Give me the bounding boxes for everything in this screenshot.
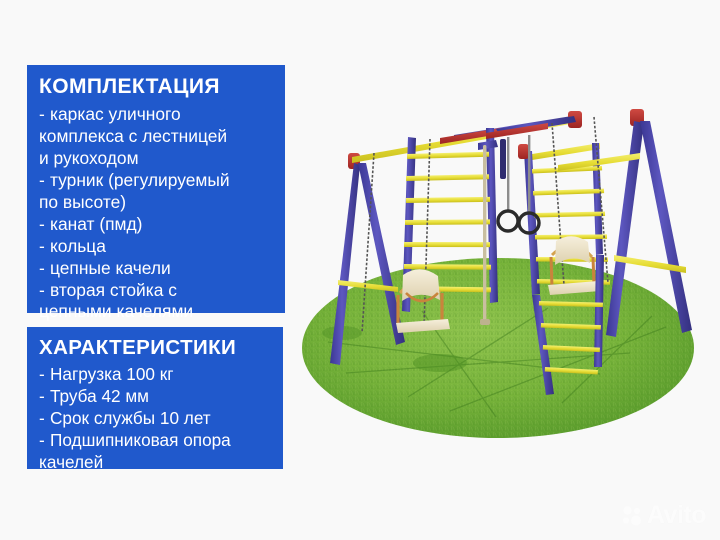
list-item: -Нагрузка 100 кг [39,364,273,385]
list-text: кольца [50,236,106,256]
seat-arm [593,257,594,285]
list-item: -Труба 42 мм [39,386,273,407]
panel-title-characteristics: ХАРАКТЕРИСТИКИ [39,336,273,360]
list-dash: - [39,236,45,257]
list-dash: - [39,430,45,451]
playground-product-photo [300,95,710,440]
avito-wordmark: Avito [647,503,706,528]
list-item: -Срок службы 10 лет [39,408,273,429]
list-dash: - [39,104,45,125]
list-dash: - [39,214,45,235]
list-dash: - [39,170,45,191]
info-panel-equipment: КОМПЛЕКТАЦИЯ -каркас уличного комплекса … [27,65,285,313]
list-text: каркас уличного [50,104,181,124]
list-text: цепные качели [50,258,171,278]
list-text: Подшипниковая опора [50,430,231,450]
list-dash: - [39,280,45,301]
characteristics-list: -Нагрузка 100 кг -Труба 42 мм -Срок служ… [39,364,273,473]
turnik-adjuster [500,139,506,179]
list-text: и рукоходом [39,148,139,168]
turnik-mount [478,140,498,150]
list-text: цепными качелями [39,301,193,321]
list-text: вторая стойка с [50,280,177,300]
list-item: -кольца [39,236,275,257]
list-text: по высоте) [39,192,126,212]
list-item: качелей [39,452,273,473]
equipment-list: -каркас уличного комплекса с лестницей и… [39,104,275,323]
list-item: комплекса с лестницей [39,126,275,147]
list-item: -Подшипниковая опора [39,430,273,451]
list-item: по высоте) [39,192,275,213]
list-dash: - [39,364,45,385]
list-item: -турник (регулируемый [39,170,275,191]
list-dash: - [39,386,45,407]
list-text: турник (регулируемый [50,170,230,190]
list-item: -цепные качели [39,258,275,279]
list-text: комплекса с лестницей [39,126,227,146]
monkey-bar-rail [526,143,600,161]
panel-title-equipment: КОМПЛЕКТАЦИЯ [39,75,275,100]
seat-arm [551,257,552,287]
list-text: качелей [39,452,103,472]
avito-watermark: Avito [620,503,706,528]
list-text: Нагрузка 100 кг [50,364,174,384]
ring-icon [498,211,518,231]
list-text: Срок службы 10 лет [50,408,211,428]
list-item: -канат (пмд) [39,214,275,235]
list-item: и рукоходом [39,148,275,169]
info-panel-characteristics: ХАРАКТЕРИСТИКИ -Нагрузка 100 кг -Труба 4… [27,327,283,469]
list-text: Труба 42 мм [50,386,149,406]
list-text: канат (пмд) [50,214,142,234]
frame-connector [518,144,529,159]
list-dash: - [39,258,45,279]
product-image-canvas: КОМПЛЕКТАЦИЯ -каркас уличного комплекса … [0,0,720,540]
list-item: -каркас уличного [39,104,275,125]
list-item: цепными качелями [39,301,275,322]
post-shadow [413,354,467,372]
list-item: -вторая стойка с [39,280,275,301]
avito-dots-icon [620,504,644,528]
list-dash: - [39,408,45,429]
